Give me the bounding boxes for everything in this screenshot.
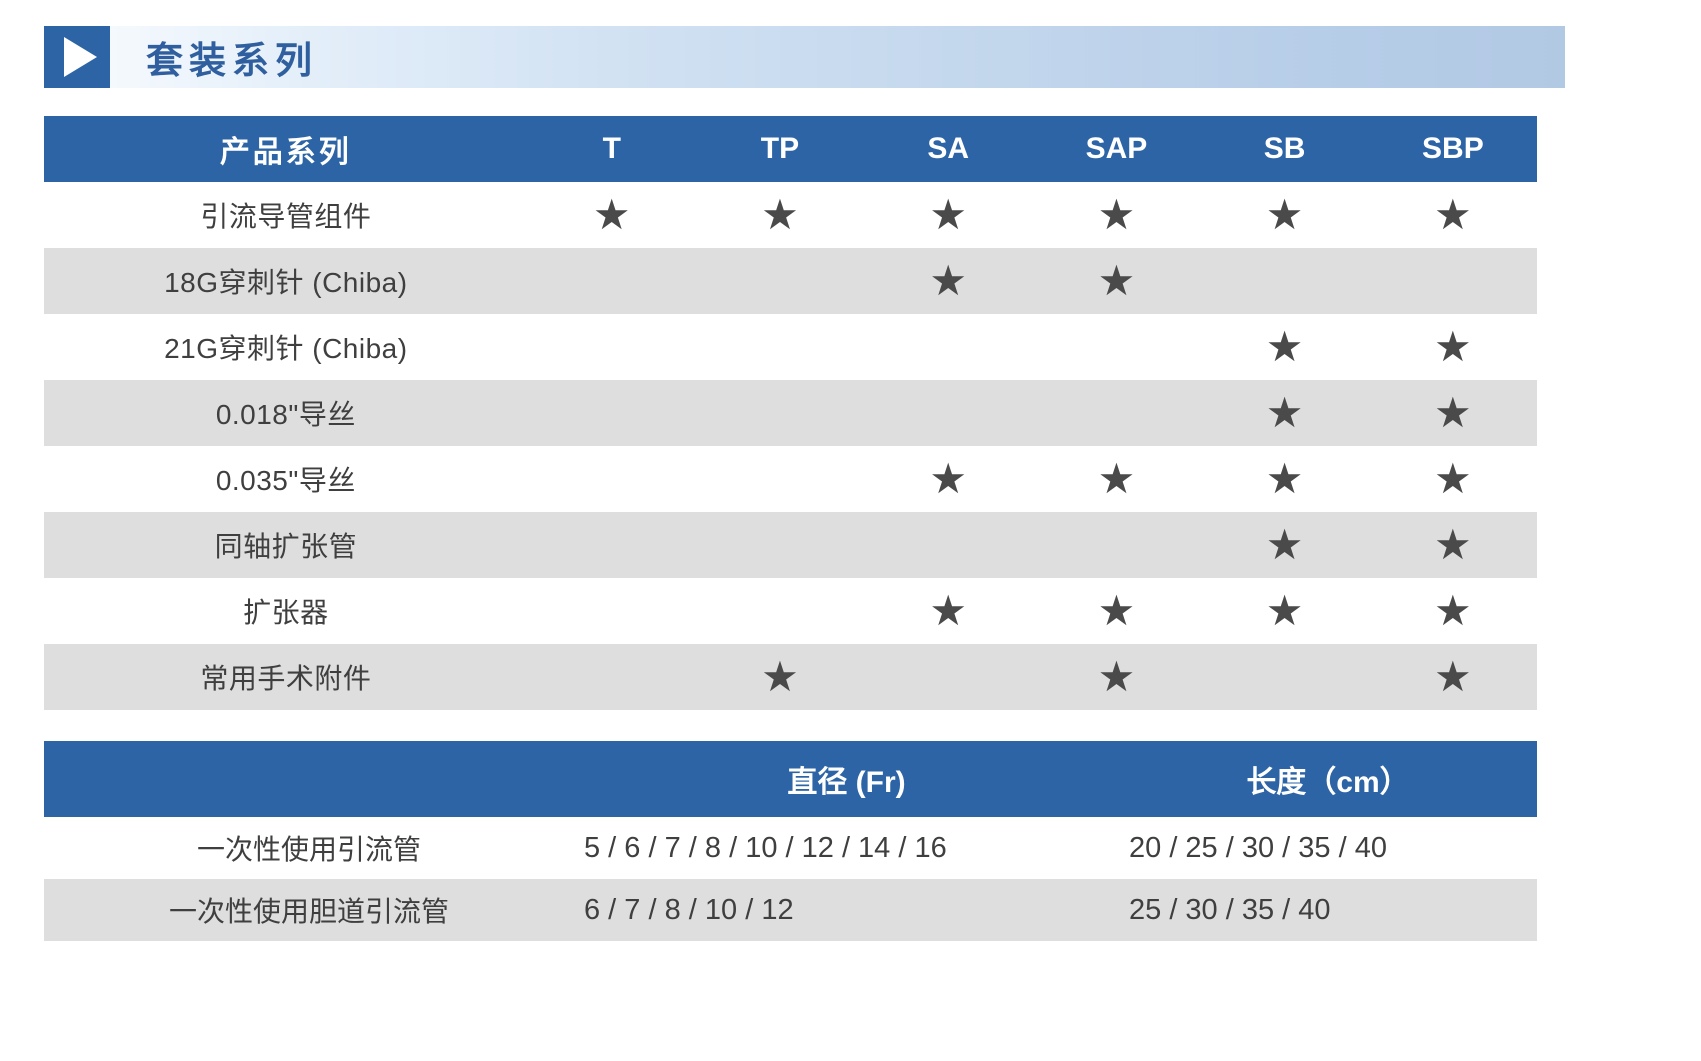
- star-icon: ★: [1098, 260, 1136, 302]
- cell-sbp: ★: [1369, 314, 1537, 380]
- column-header-t: T: [528, 116, 696, 182]
- table-row: 一次性使用引流管5 / 6 / 7 / 8 / 10 / 12 / 14 / 1…: [44, 817, 1537, 879]
- column-header-diameter: 直径 (Fr): [574, 741, 1119, 817]
- size-table: 直径 (Fr) 长度（cm） 一次性使用引流管5 / 6 / 7 / 8 / 1…: [44, 741, 1537, 941]
- star-icon: ★: [1434, 656, 1472, 698]
- star-icon: ★: [1434, 392, 1472, 434]
- cell-t: ★: [528, 578, 696, 644]
- star-icon: ★: [1434, 458, 1472, 500]
- table-row: 0.018"导丝★★★★★★: [44, 380, 1537, 446]
- star-icon: ★: [761, 656, 799, 698]
- cell-sb: ★: [1201, 182, 1369, 248]
- cell-sap: ★: [1032, 182, 1200, 248]
- row-label: 常用手术附件: [44, 644, 528, 710]
- star-icon: ★: [1098, 656, 1136, 698]
- row-label: 0.035"导丝: [44, 446, 528, 512]
- cell-t: ★: [528, 248, 696, 314]
- cell-sap: ★: [1032, 578, 1200, 644]
- column-header-sbp: SBP: [1369, 116, 1537, 182]
- column-header-blank: [44, 741, 574, 817]
- cell-tp: ★: [696, 182, 864, 248]
- cell-tp: ★: [696, 248, 864, 314]
- cell-t: ★: [528, 380, 696, 446]
- column-header-product-series: 产品系列: [44, 116, 528, 182]
- cell-sbp: ★: [1369, 248, 1537, 314]
- table-row: 同轴扩张管★★★★★★: [44, 512, 1537, 578]
- cell-t: ★: [528, 512, 696, 578]
- cell-tp: ★: [696, 314, 864, 380]
- cell-sa: ★: [864, 248, 1032, 314]
- cell-tp: ★: [696, 512, 864, 578]
- cell-sap: ★: [1032, 512, 1200, 578]
- table-row: 扩张器★★★★★★: [44, 578, 1537, 644]
- cell-sa: ★: [864, 446, 1032, 512]
- cell-t: ★: [528, 644, 696, 710]
- cell-sap: ★: [1032, 380, 1200, 446]
- cell-sa: ★: [864, 314, 1032, 380]
- star-icon: ★: [1098, 194, 1136, 236]
- column-header-sap: SAP: [1032, 116, 1200, 182]
- star-icon: ★: [593, 194, 631, 236]
- page-title: 套装系列: [146, 30, 318, 84]
- cell-sap: ★: [1032, 644, 1200, 710]
- cell-diameter: 5 / 6 / 7 / 8 / 10 / 12 / 14 / 16: [574, 817, 1119, 879]
- size-table-header-row: 直径 (Fr) 长度（cm）: [44, 741, 1537, 817]
- star-icon: ★: [929, 458, 967, 500]
- star-icon: ★: [1098, 458, 1136, 500]
- column-header-sb: SB: [1201, 116, 1369, 182]
- star-icon: ★: [1434, 194, 1472, 236]
- star-icon: ★: [1266, 392, 1304, 434]
- cell-sb: ★: [1201, 248, 1369, 314]
- cell-sa: ★: [864, 578, 1032, 644]
- row-label: 扩张器: [44, 578, 528, 644]
- cell-sa: ★: [864, 380, 1032, 446]
- cell-sb: ★: [1201, 446, 1369, 512]
- table-row: 常用手术附件★★★★★★: [44, 644, 1537, 710]
- row-label: 18G穿刺针 (Chiba): [44, 248, 528, 314]
- star-icon: ★: [1266, 326, 1304, 368]
- cell-diameter: 6 / 7 / 8 / 10 / 12: [574, 879, 1119, 941]
- cell-length: 20 / 25 / 30 / 35 / 40: [1119, 817, 1537, 879]
- cell-sb: ★: [1201, 644, 1369, 710]
- cell-sap: ★: [1032, 446, 1200, 512]
- cell-sbp: ★: [1369, 578, 1537, 644]
- series-matrix-table: 产品系列 T TP SA SAP SB SBP 引流导管组件★★★★★★18G穿…: [44, 116, 1537, 710]
- cell-tp: ★: [696, 578, 864, 644]
- cell-sb: ★: [1201, 512, 1369, 578]
- table-row: 引流导管组件★★★★★★: [44, 182, 1537, 248]
- star-icon: ★: [1266, 590, 1304, 632]
- cell-sbp: ★: [1369, 512, 1537, 578]
- cell-sb: ★: [1201, 578, 1369, 644]
- cell-sap: ★: [1032, 314, 1200, 380]
- star-icon: ★: [1266, 524, 1304, 566]
- row-label: 引流导管组件: [44, 182, 528, 248]
- play-triangle-icon: [44, 26, 110, 88]
- row-label: 0.018"导丝: [44, 380, 528, 446]
- star-icon: ★: [929, 194, 967, 236]
- cell-sa: ★: [864, 644, 1032, 710]
- table-row: 18G穿刺针 (Chiba)★★★★★★: [44, 248, 1537, 314]
- table-row: 0.035"导丝★★★★★★: [44, 446, 1537, 512]
- cell-tp: ★: [696, 644, 864, 710]
- row-label: 21G穿刺针 (Chiba): [44, 314, 528, 380]
- cell-sap: ★: [1032, 248, 1200, 314]
- product-spec-page: 套装系列 产品系列 T TP SA SAP SB SBP 引流导管组件★★★★★…: [0, 0, 1701, 1061]
- star-icon: ★: [1434, 524, 1472, 566]
- column-header-length: 长度（cm）: [1119, 741, 1537, 817]
- banner-gradient-bar: 套装系列: [110, 26, 1565, 88]
- cell-sa: ★: [864, 182, 1032, 248]
- cell-sbp: ★: [1369, 644, 1537, 710]
- star-icon: ★: [761, 194, 799, 236]
- cell-t: ★: [528, 182, 696, 248]
- star-icon: ★: [1266, 458, 1304, 500]
- cell-sb: ★: [1201, 380, 1369, 446]
- table-row: 21G穿刺针 (Chiba)★★★★★★: [44, 314, 1537, 380]
- cell-sbp: ★: [1369, 446, 1537, 512]
- cell-tp: ★: [696, 380, 864, 446]
- cell-sa: ★: [864, 512, 1032, 578]
- star-icon: ★: [1434, 590, 1472, 632]
- cell-t: ★: [528, 446, 696, 512]
- star-icon: ★: [1434, 326, 1472, 368]
- star-icon: ★: [1266, 194, 1304, 236]
- row-label: 一次性使用引流管: [44, 817, 574, 879]
- table-row: 一次性使用胆道引流管6 / 7 / 8 / 10 / 1225 / 30 / 3…: [44, 879, 1537, 941]
- star-icon: ★: [929, 590, 967, 632]
- cell-tp: ★: [696, 446, 864, 512]
- star-icon: ★: [929, 260, 967, 302]
- cell-sbp: ★: [1369, 380, 1537, 446]
- cell-sbp: ★: [1369, 182, 1537, 248]
- cell-length: 25 / 30 / 35 / 40: [1119, 879, 1537, 941]
- star-icon: ★: [1098, 590, 1136, 632]
- cell-sb: ★: [1201, 314, 1369, 380]
- section-banner: 套装系列: [44, 26, 1565, 88]
- column-header-tp: TP: [696, 116, 864, 182]
- column-header-sa: SA: [864, 116, 1032, 182]
- row-label: 同轴扩张管: [44, 512, 528, 578]
- cell-t: ★: [528, 314, 696, 380]
- row-label: 一次性使用胆道引流管: [44, 879, 574, 941]
- series-table-header-row: 产品系列 T TP SA SAP SB SBP: [44, 116, 1537, 182]
